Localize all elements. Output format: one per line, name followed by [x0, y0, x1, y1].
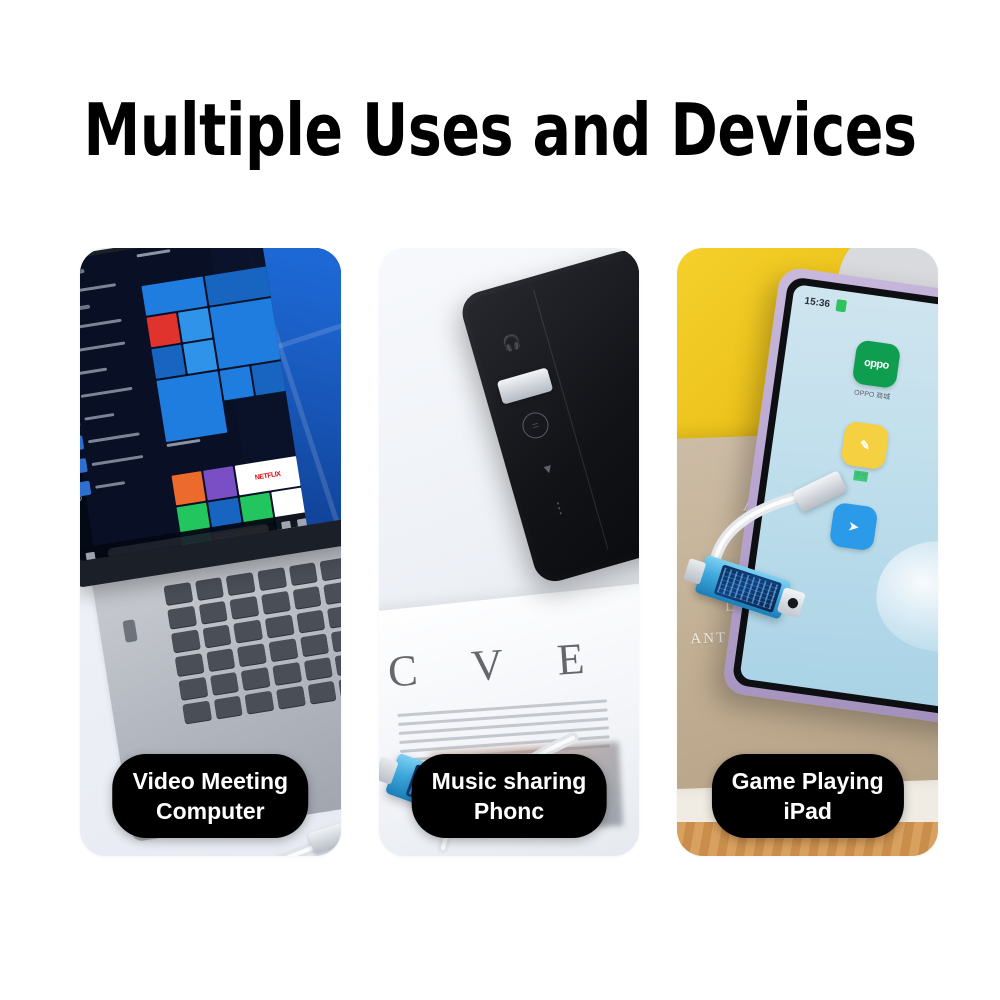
- tile-group-label-productivity: [136, 248, 262, 261]
- page-title: Multiple Uses and Devices: [60, 92, 940, 168]
- tile-skype[interactable]: [178, 308, 212, 342]
- clock-label: 15:36: [804, 295, 831, 309]
- keyboard-key: [237, 643, 266, 666]
- keyboard-key: [195, 577, 224, 600]
- keyboard-key: [167, 606, 196, 629]
- panel-caption-game-playing: Game Playing iPad: [712, 754, 904, 838]
- magazine-letters: C V E: [386, 631, 607, 697]
- caption-line-2: Computer: [133, 796, 289, 826]
- pen-icon[interactable]: ✎: [840, 421, 890, 471]
- tile-weather[interactable]: [210, 298, 281, 369]
- keyboard-key: [327, 605, 340, 628]
- tile-edge[interactable]: [220, 366, 254, 400]
- panel-game-playing: M JUST A AITING FOR ONLY SU WE ARE ALL "…: [677, 248, 938, 856]
- tablet-app-label: OPPO 商城: [854, 387, 891, 402]
- tablet-app-notes[interactable]: ✎ 便签: [838, 421, 890, 485]
- keyboard-key: [182, 701, 211, 724]
- dac-cable-end: [379, 756, 399, 785]
- caption-line-2: iPad: [732, 796, 884, 826]
- tablet-status-bar: 15:36: [804, 295, 847, 313]
- app-name: [80, 367, 107, 375]
- keyboard-key: [307, 681, 336, 704]
- taskbar-app-icon[interactable]: [281, 520, 291, 530]
- start-button-icon[interactable]: [85, 551, 95, 561]
- tile-office[interactable]: [146, 313, 180, 347]
- app-icon: [80, 435, 84, 451]
- keyboard-key: [272, 662, 301, 685]
- tile-calendar[interactable]: [151, 345, 185, 379]
- caption-line-1: Game Playing: [732, 768, 884, 794]
- keyboard-key: [289, 562, 318, 585]
- panel-caption-video-meeting: Video Meeting Computer: [113, 754, 309, 838]
- app-icon: [80, 458, 88, 474]
- keyboard-key: [265, 615, 294, 638]
- app-name: [95, 481, 125, 489]
- app-icon: [80, 481, 91, 497]
- keyboard-key: [324, 581, 341, 604]
- keyboard-key: [331, 628, 341, 651]
- keyboard-key: [261, 591, 290, 614]
- keyboard-key: [234, 620, 263, 643]
- keyboard-key: [339, 676, 341, 699]
- caption-line-1: Video Meeting: [133, 768, 289, 794]
- signal-icon: ⋮: [550, 497, 569, 518]
- keyboard-key: [171, 629, 200, 652]
- keyboard-key: [179, 677, 208, 700]
- keyboard-key: [202, 625, 231, 648]
- app-name: [84, 412, 114, 420]
- keyboard-key: [276, 686, 305, 709]
- laptop-usb-port: [122, 619, 137, 643]
- battery-icon: [835, 299, 847, 312]
- keyboard-key: [241, 667, 270, 690]
- keyboard-key: [320, 557, 341, 580]
- app-name: [81, 386, 133, 397]
- tile-people[interactable]: [183, 340, 217, 374]
- taskbar-app-icon[interactable]: [297, 518, 307, 528]
- keyboard-key: [300, 633, 329, 656]
- keyboard-key: [206, 648, 235, 671]
- caption-line-2: Phonc: [432, 796, 587, 826]
- keyboard-key: [296, 610, 325, 633]
- laptop-lid: NETFLIX: [80, 248, 341, 588]
- laptop-display: NETFLIX: [80, 248, 341, 561]
- app-name: [80, 318, 122, 329]
- equalizer-icon: =: [520, 409, 552, 441]
- panel-music-sharing: C V E 🎧 ◂ = ▾ ⋮: [379, 248, 640, 856]
- app-name: [91, 454, 143, 465]
- tile-purple-app[interactable]: [203, 466, 237, 500]
- keyboard-key: [210, 672, 239, 695]
- app-list-item[interactable]: [80, 274, 138, 302]
- tablet-app-oppo[interactable]: oppo OPPO 商城: [850, 339, 902, 403]
- keyboard-key: [245, 691, 274, 714]
- keyboard-key: [214, 696, 243, 719]
- headphone-icon: 🎧: [501, 331, 524, 353]
- app-name: [80, 283, 116, 294]
- tile-music[interactable]: [171, 471, 205, 505]
- app-icon: [80, 413, 81, 429]
- keyboard-key: [199, 601, 228, 624]
- section-label-recently-added: [80, 269, 85, 280]
- keyboard-key: [269, 638, 298, 661]
- section-label-suggested: [80, 304, 90, 315]
- panel-video-meeting: NETFLIX: [80, 248, 341, 856]
- keyboard-key: [230, 596, 259, 619]
- tile-photos[interactable]: [156, 371, 227, 442]
- oppo-app-icon[interactable]: oppo: [852, 339, 902, 389]
- keyboard-key: [257, 567, 286, 590]
- laptop-keyboard: [163, 542, 340, 754]
- keyboard-key: [335, 652, 341, 675]
- tablet-wallpaper: [870, 533, 938, 660]
- keyboard-key: [226, 572, 255, 595]
- tablet-app-label: 便签: [853, 470, 868, 482]
- keyboard-key: [163, 582, 192, 605]
- product-feature-page: Multiple Uses and Devices: [0, 0, 1000, 1000]
- keyboard-key: [292, 586, 321, 609]
- volume-up-icon: ▾: [542, 459, 554, 478]
- app-list-item[interactable]: [80, 468, 168, 496]
- caption-line-1: Music sharing: [432, 768, 587, 794]
- panel-caption-music-sharing: Music sharing Phonc: [412, 754, 607, 838]
- app-name: [88, 432, 140, 443]
- keyboard-key: [175, 653, 204, 676]
- scene-panels: NETFLIX: [80, 248, 938, 856]
- app-name: [80, 341, 125, 352]
- tile-messaging[interactable]: [251, 361, 285, 395]
- keyboard-key: [304, 657, 333, 680]
